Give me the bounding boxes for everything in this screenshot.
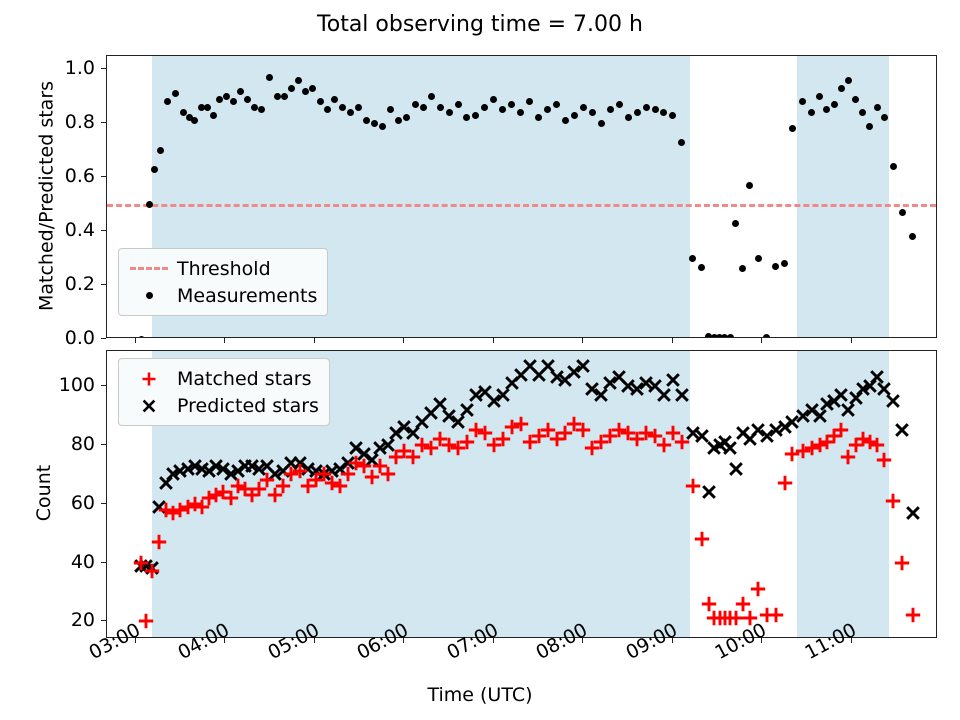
- cross-marker-icon: [127, 397, 171, 415]
- data-point-measurement: [755, 255, 762, 262]
- figure-canvas: Total observing time = 7.00 h 0.00.20.40…: [0, 0, 960, 720]
- x-tick: [493, 338, 494, 343]
- data-point-measurement: [689, 255, 696, 262]
- data-point-measurement: [553, 101, 560, 108]
- y-tick: [101, 444, 106, 445]
- data-point-measurement: [643, 104, 650, 111]
- data-point-measurement: [746, 182, 753, 189]
- data-point-measurement: [831, 101, 838, 108]
- y-tick: [101, 122, 106, 123]
- y-tick: [101, 230, 106, 231]
- x-tick: [582, 338, 583, 343]
- data-point-measurement: [295, 77, 302, 84]
- data-point-measurement: [732, 220, 739, 227]
- data-point-measurement: [455, 101, 462, 108]
- x-tick: [851, 338, 852, 343]
- x-tick: [224, 338, 225, 343]
- data-point-measurement: [237, 88, 244, 95]
- legend-item-predicted: Predicted stars: [127, 392, 319, 419]
- data-point-measurement: [281, 93, 288, 100]
- y-tick: [101, 503, 106, 504]
- data-point-measurement: [210, 112, 217, 119]
- legend-top-panel: Threshold Measurements: [118, 248, 328, 316]
- data-point-measurement: [317, 98, 324, 105]
- data-point-measurement: [781, 260, 788, 267]
- data-point-measurement: [616, 101, 623, 108]
- data-point-measurement: [490, 96, 497, 103]
- data-point-measurement: [580, 104, 587, 111]
- data-point-measurement: [763, 334, 770, 338]
- data-point-measurement: [151, 166, 158, 173]
- y-tick: [101, 338, 106, 339]
- figure-title: Total observing time = 7.00 h: [0, 12, 960, 37]
- dashed-line-icon: [127, 267, 171, 270]
- y-tick: [101, 68, 106, 69]
- dot-marker-icon: [127, 292, 171, 299]
- legend-item-matched: Matched stars: [127, 365, 319, 392]
- x-tick: [314, 338, 315, 343]
- data-point-measurement: [223, 93, 230, 100]
- data-point-measurement: [251, 104, 258, 111]
- data-point-measurement: [302, 88, 309, 95]
- y-axis-label-bottom: Count: [33, 349, 55, 637]
- data-point-measurement: [845, 77, 852, 84]
- data-point-measurement: [598, 120, 605, 127]
- plus-marker-icon: [127, 370, 171, 388]
- y-tick: [101, 620, 106, 621]
- data-point-measurement: [420, 104, 427, 111]
- data-point-measurement: [288, 85, 295, 92]
- data-point-measurement: [157, 147, 164, 154]
- x-tick: [135, 338, 136, 343]
- data-point-measurement: [274, 93, 281, 100]
- data-point-measurement: [909, 233, 916, 240]
- data-point-measurement: [698, 264, 705, 271]
- legend-label-measurements: Measurements: [171, 285, 317, 307]
- data-point-measurement: [589, 109, 596, 116]
- y-tick: [101, 562, 106, 563]
- data-point-measurement: [838, 85, 845, 92]
- x-tick: [761, 338, 762, 343]
- data-point-measurement: [412, 101, 419, 108]
- data-point-measurement: [437, 104, 444, 111]
- data-point-measurement: [339, 104, 346, 111]
- data-point-measurement: [634, 109, 641, 116]
- data-point-measurement: [379, 123, 386, 130]
- data-point-measurement: [446, 109, 453, 116]
- data-point-measurement: [428, 93, 435, 100]
- data-point-measurement: [852, 96, 859, 103]
- y-axis-label-top: Matched/Predicted stars: [35, 54, 57, 337]
- data-point-measurement: [172, 90, 179, 97]
- legend-label-matched: Matched stars: [171, 368, 311, 390]
- x-axis-label: Time (UTC): [0, 684, 960, 706]
- legend-label-threshold: Threshold: [171, 258, 271, 280]
- shaded-band: [797, 56, 889, 337]
- data-point-measurement: [138, 336, 145, 339]
- data-point-measurement: [571, 112, 578, 119]
- data-point-measurement: [727, 334, 734, 338]
- legend-label-predicted: Predicted stars: [171, 395, 319, 417]
- data-point-measurement: [331, 96, 338, 103]
- data-point-measurement: [890, 163, 897, 170]
- data-point-measurement: [739, 265, 746, 272]
- data-point-measurement: [244, 96, 251, 103]
- data-point-measurement: [789, 125, 796, 132]
- data-point-measurement: [355, 104, 362, 111]
- legend-item-threshold: Threshold: [127, 255, 317, 282]
- data-point-measurement: [874, 104, 881, 111]
- y-tick: [101, 385, 106, 386]
- data-point-measurement: [204, 104, 211, 111]
- data-point-measurement: [652, 106, 659, 113]
- legend-item-measurements: Measurements: [127, 282, 317, 309]
- x-tick: [403, 338, 404, 343]
- data-point-measurement: [772, 263, 779, 270]
- legend-bottom-panel: Matched stars Predicted stars: [118, 358, 330, 426]
- data-point-measurement: [899, 209, 906, 216]
- threshold-line: [107, 204, 936, 207]
- y-tick: [101, 284, 106, 285]
- x-tick: [672, 338, 673, 343]
- y-tick: [101, 176, 106, 177]
